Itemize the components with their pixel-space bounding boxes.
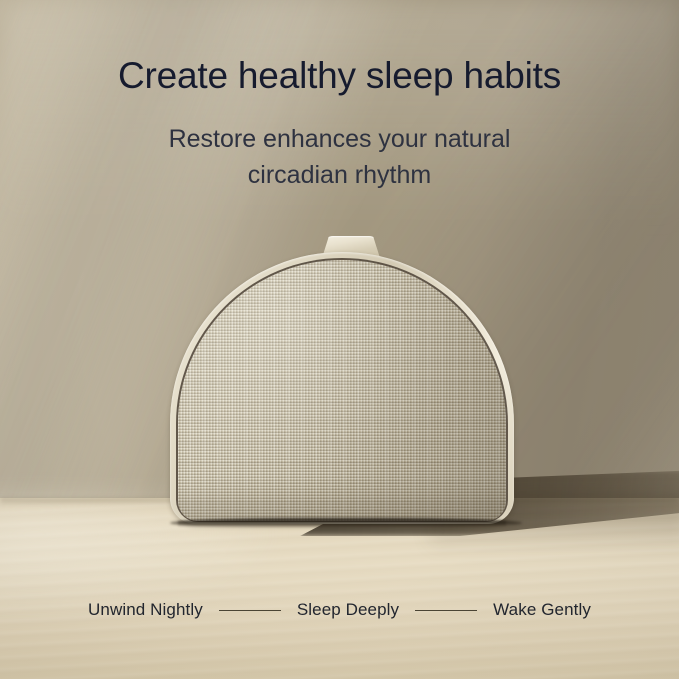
product-linen-face	[178, 260, 506, 521]
linen-bottom-shade	[178, 481, 506, 521]
step-divider-2	[415, 610, 477, 611]
product-device	[170, 252, 514, 524]
step-divider-1	[219, 610, 281, 611]
step-label-unwind-nightly: Unwind Nightly	[88, 600, 203, 620]
product-marketing-image: Create healthy sleep habits Restore enha…	[0, 0, 679, 679]
step-label-wake-gently: Wake Gently	[493, 600, 591, 620]
subtitle-line-1: Restore enhances your natural	[0, 122, 679, 158]
subtitle-line-2: circadian rhythm	[0, 158, 679, 194]
subtitle: Restore enhances your natural circadian …	[0, 122, 679, 193]
product-contact-shadow	[170, 518, 522, 528]
step-label-sleep-deeply: Sleep Deeply	[297, 600, 399, 620]
feature-steps: Unwind Nightly Sleep Deeply Wake Gently	[0, 600, 679, 620]
page-title: Create healthy sleep habits	[0, 56, 679, 97]
